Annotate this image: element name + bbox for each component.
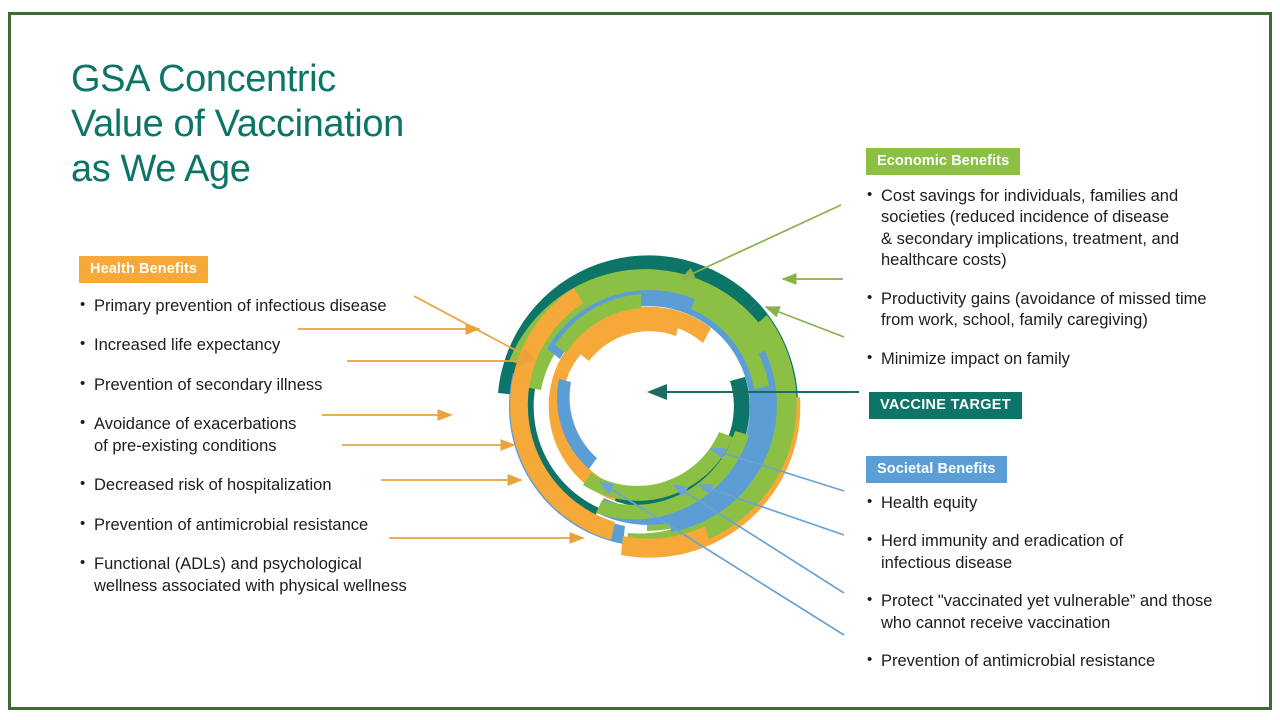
- badge-health-benefits: Health Benefits: [79, 256, 208, 283]
- bullet-text: Increased life expectancy: [94, 335, 459, 356]
- list-item: Decreased risk of hospitalization: [79, 475, 459, 496]
- list-item: Prevention of antimicrobial resistance: [866, 651, 1266, 672]
- bullet-text: Protect "vaccinated yet vulnerable” and …: [881, 591, 1266, 612]
- bullet-text: infectious disease: [881, 553, 1266, 574]
- bullet-text: from work, school, family caregiving): [881, 310, 1256, 331]
- badge-societal-benefits: Societal Benefits: [866, 456, 1007, 483]
- rings-group: [498, 255, 800, 557]
- list-societal-benefits: Health equity Herd immunity and eradicat…: [866, 493, 1266, 690]
- list-item: Productivity gains (avoidance of missed …: [866, 289, 1256, 332]
- bullet-text: Minimize impact on family: [881, 349, 1256, 370]
- bullet-text: Functional (ADLs) and psychological: [94, 554, 459, 575]
- list-item: Functional (ADLs) and psychological well…: [79, 554, 459, 597]
- page-title: GSA Concentric Value of Vaccination as W…: [71, 57, 531, 193]
- bullet-text: Health equity: [881, 493, 1266, 514]
- bullet-text: Cost savings for individuals, families a…: [881, 186, 1256, 207]
- bullet-text: Primary prevention of infectious disease: [94, 296, 459, 317]
- bullet-text: Herd immunity and eradication of: [881, 531, 1266, 552]
- list-item: Prevention of antimicrobial resistance: [79, 515, 459, 536]
- list-item: Protect "vaccinated yet vulnerable” and …: [866, 591, 1266, 634]
- title-line-2: Value of Vaccination: [71, 102, 531, 147]
- list-item: Cost savings for individuals, families a…: [866, 186, 1256, 272]
- list-item: Prevention of secondary illness: [79, 375, 459, 396]
- bullet-text: Productivity gains (avoidance of missed …: [881, 289, 1256, 310]
- bullet-text: Avoidance of exacerbations: [94, 414, 459, 435]
- badge-economic-benefits: Economic Benefits: [866, 148, 1020, 175]
- bullet-text: & secondary implications, treatment, and: [881, 229, 1256, 250]
- bullet-text: who cannot receive vaccination: [881, 613, 1266, 634]
- list-item: Avoidance of exacerbations of pre-existi…: [79, 414, 459, 457]
- list-item: Primary prevention of infectious disease: [79, 296, 459, 317]
- bullet-text: Decreased risk of hospitalization: [94, 475, 459, 496]
- bullet-text: societies (reduced incidence of disease: [881, 207, 1256, 228]
- list-health-benefits: Primary prevention of infectious disease…: [79, 296, 459, 615]
- list-item: Herd immunity and eradication of infecti…: [866, 531, 1266, 574]
- list-item: Health equity: [866, 493, 1266, 514]
- list-economic-benefits: Cost savings for individuals, families a…: [866, 186, 1256, 387]
- bullet-text: wellness associated with physical wellne…: [94, 576, 459, 597]
- badge-vaccine-target: VACCINE TARGET: [869, 392, 1022, 419]
- bullet-text: Prevention of antimicrobial resistance: [881, 651, 1266, 672]
- page-frame: GSA Concentric Value of Vaccination as W…: [8, 12, 1272, 710]
- bullet-text: healthcare costs): [881, 250, 1256, 271]
- list-item: Increased life expectancy: [79, 335, 459, 356]
- concentric-rings-graphic: [431, 200, 871, 620]
- bullet-text: of pre-existing conditions: [94, 436, 459, 457]
- title-line-1: GSA Concentric: [71, 57, 531, 102]
- title-line-3: as We Age: [71, 147, 531, 192]
- bullet-text: Prevention of antimicrobial resistance: [94, 515, 459, 536]
- bullet-text: Prevention of secondary illness: [94, 375, 459, 396]
- list-item: Minimize impact on family: [866, 349, 1256, 370]
